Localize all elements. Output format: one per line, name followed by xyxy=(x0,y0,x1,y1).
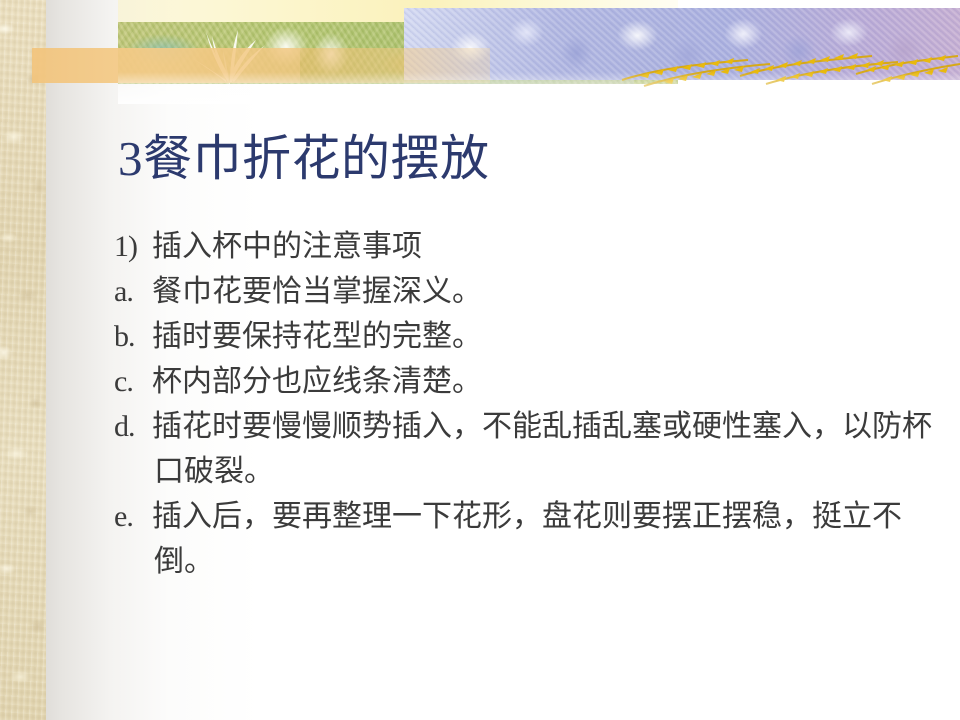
list-item-marker: c. xyxy=(116,359,152,404)
list-item-text: 餐巾花要恰当掌握深义。 xyxy=(152,275,482,308)
list-item: d.插花时要慢慢顺势插入，不能乱插乱塞或硬性塞入，以防杯口破裂。 xyxy=(118,404,949,494)
list-item-marker: 1) xyxy=(116,224,152,269)
list-item-text: 杯内部分也应线条清楚。 xyxy=(152,365,482,398)
list-item-text: 插时要保持花型的完整。 xyxy=(152,320,482,353)
list-item-marker: b. xyxy=(116,314,152,359)
list-item-text: 插花时要慢慢顺势插入，不能乱插乱塞或硬性塞入，以防杯口破裂。 xyxy=(152,410,932,488)
list-item: 1)插入杯中的注意事项 xyxy=(118,224,928,269)
slide-content: 3餐巾折花的摆放 1)插入杯中的注意事项 a.餐巾花要恰当掌握深义。 b.插时要… xyxy=(0,0,960,720)
list-item: e.插入后，要再整理一下花形，盘花则要摆正摆稳，挺立不倒。 xyxy=(118,494,949,584)
list-item: a.餐巾花要恰当掌握深义。 xyxy=(118,269,928,314)
list-item-marker: e. xyxy=(116,494,152,539)
list-item-marker: d. xyxy=(116,404,152,449)
list-item-text: 插入后，要再整理一下花形，盘花则要摆正摆稳，挺立不倒。 xyxy=(152,500,902,578)
list-item: b.插时要保持花型的完整。 xyxy=(118,314,928,359)
slide-body-list: 1)插入杯中的注意事项 a.餐巾花要恰当掌握深义。 b.插时要保持花型的完整。 … xyxy=(118,224,928,584)
presentation-slide: 3餐巾折花的摆放 1)插入杯中的注意事项 a.餐巾花要恰当掌握深义。 b.插时要… xyxy=(0,0,960,720)
list-item-text: 插入杯中的注意事项 xyxy=(152,230,422,263)
slide-title: 3餐巾折花的摆放 xyxy=(118,132,898,186)
list-item: c.杯内部分也应线条清楚。 xyxy=(118,359,928,404)
list-item-marker: a. xyxy=(116,269,152,314)
